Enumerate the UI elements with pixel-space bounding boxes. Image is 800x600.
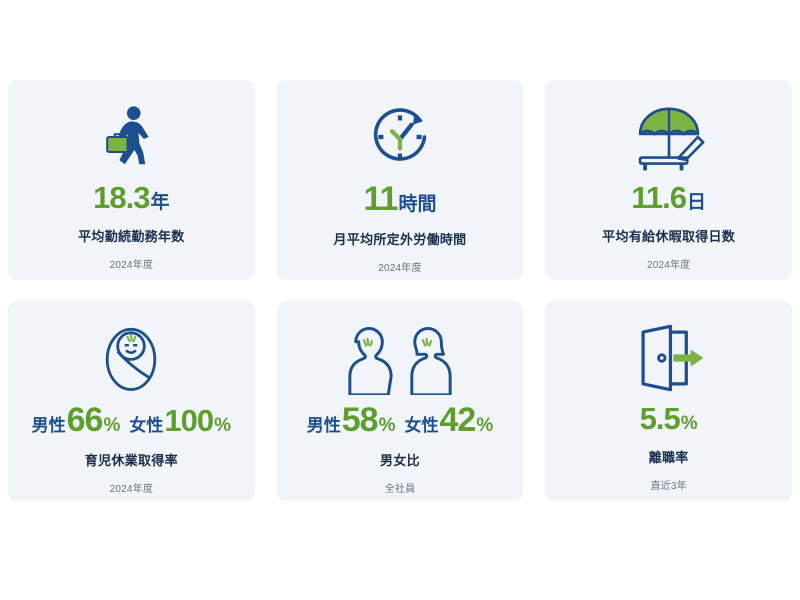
stat-value: 11時間 xyxy=(364,182,437,216)
stat-value-part-number-green: 58 xyxy=(342,403,378,437)
two-people-male-female-icon xyxy=(341,315,459,401)
clock-icon xyxy=(364,94,436,180)
stat-card-6: 5.5%離職率直近3年 xyxy=(545,301,792,501)
swaddled-baby-icon xyxy=(96,315,166,401)
stat-card-4: 男性66%女性100%育児休業取得率2024年度 xyxy=(8,301,255,501)
stat-subcaption: 2024年度 xyxy=(378,259,421,274)
stat-value-part-number-green: 11 xyxy=(364,182,398,216)
stat-subcaption: 直近3年 xyxy=(650,477,686,492)
stat-card-5: 男性58%女性42%男女比全社員 xyxy=(277,301,524,501)
stat-caption: 育児休業取得率 xyxy=(85,450,178,469)
stat-value-part-number-green: 18.3 xyxy=(93,182,149,213)
stat-value: 男性66%女性100% xyxy=(32,403,231,437)
stats-card-grid: 18.3年平均勤続勤務年数2024年度11時間月平均所定外労働時間2024年度1… xyxy=(8,80,792,501)
stat-value: 5.5% xyxy=(640,403,698,434)
stat-value: 男性58%女性42% xyxy=(307,403,493,437)
stat-value-part-unit-green: % xyxy=(214,416,231,435)
walking-person-with-briefcase-icon xyxy=(97,94,165,180)
stat-value-part-label-navy: 男性 xyxy=(32,417,66,434)
beach-umbrella-lounger-icon xyxy=(631,94,707,180)
stat-card-2: 11時間月平均所定外労働時間2024年度 xyxy=(277,80,524,280)
stat-subcaption: 2024年度 xyxy=(647,256,690,271)
stat-caption: 男女比 xyxy=(380,450,420,469)
stat-subcaption: 2024年度 xyxy=(110,256,153,271)
stat-value-part-unit-navy: 年 xyxy=(150,193,169,212)
stat-value-part-number-green: 100 xyxy=(164,405,213,436)
stat-value: 11.6日 xyxy=(631,182,706,213)
stat-subcaption: 2024年度 xyxy=(110,480,153,495)
stat-caption: 平均勤続勤務年数 xyxy=(78,226,184,245)
stat-value-part-unit-navy: 日 xyxy=(687,193,706,212)
stat-subcaption: 全社員 xyxy=(385,480,416,495)
stat-caption: 月平均所定外労働時間 xyxy=(333,229,466,248)
stat-value-part-unit-green: % xyxy=(681,414,698,433)
stat-value: 18.3年 xyxy=(93,182,169,213)
stat-value-part-number-green: 42 xyxy=(439,403,475,437)
stat-card-3: 11.6日平均有給休暇取得日数2024年度 xyxy=(545,80,792,280)
open-door-exit-arrow-icon xyxy=(633,315,705,401)
stat-value-part-number-green: 66 xyxy=(67,403,103,437)
stat-caption: 離職率 xyxy=(649,447,689,466)
stat-value-part-number-green: 11.6 xyxy=(631,182,686,213)
stat-value-part-label-navy: 女性 xyxy=(129,417,163,434)
stat-value-part-number-green: 5.5 xyxy=(640,403,680,434)
stat-card-1: 18.3年平均勤続勤務年数2024年度 xyxy=(8,80,255,280)
stat-caption: 平均有給休暇取得日数 xyxy=(602,226,735,245)
stat-value-part-unit-green: % xyxy=(103,416,120,435)
stat-value-part-label-navy: 男性 xyxy=(307,417,341,434)
stat-value-part-label-navy: 女性 xyxy=(404,417,438,434)
stat-value-part-unit-navy: 時間 xyxy=(398,195,436,214)
stat-value-part-unit-green: % xyxy=(379,416,396,435)
stat-value-part-unit-green: % xyxy=(476,416,493,435)
